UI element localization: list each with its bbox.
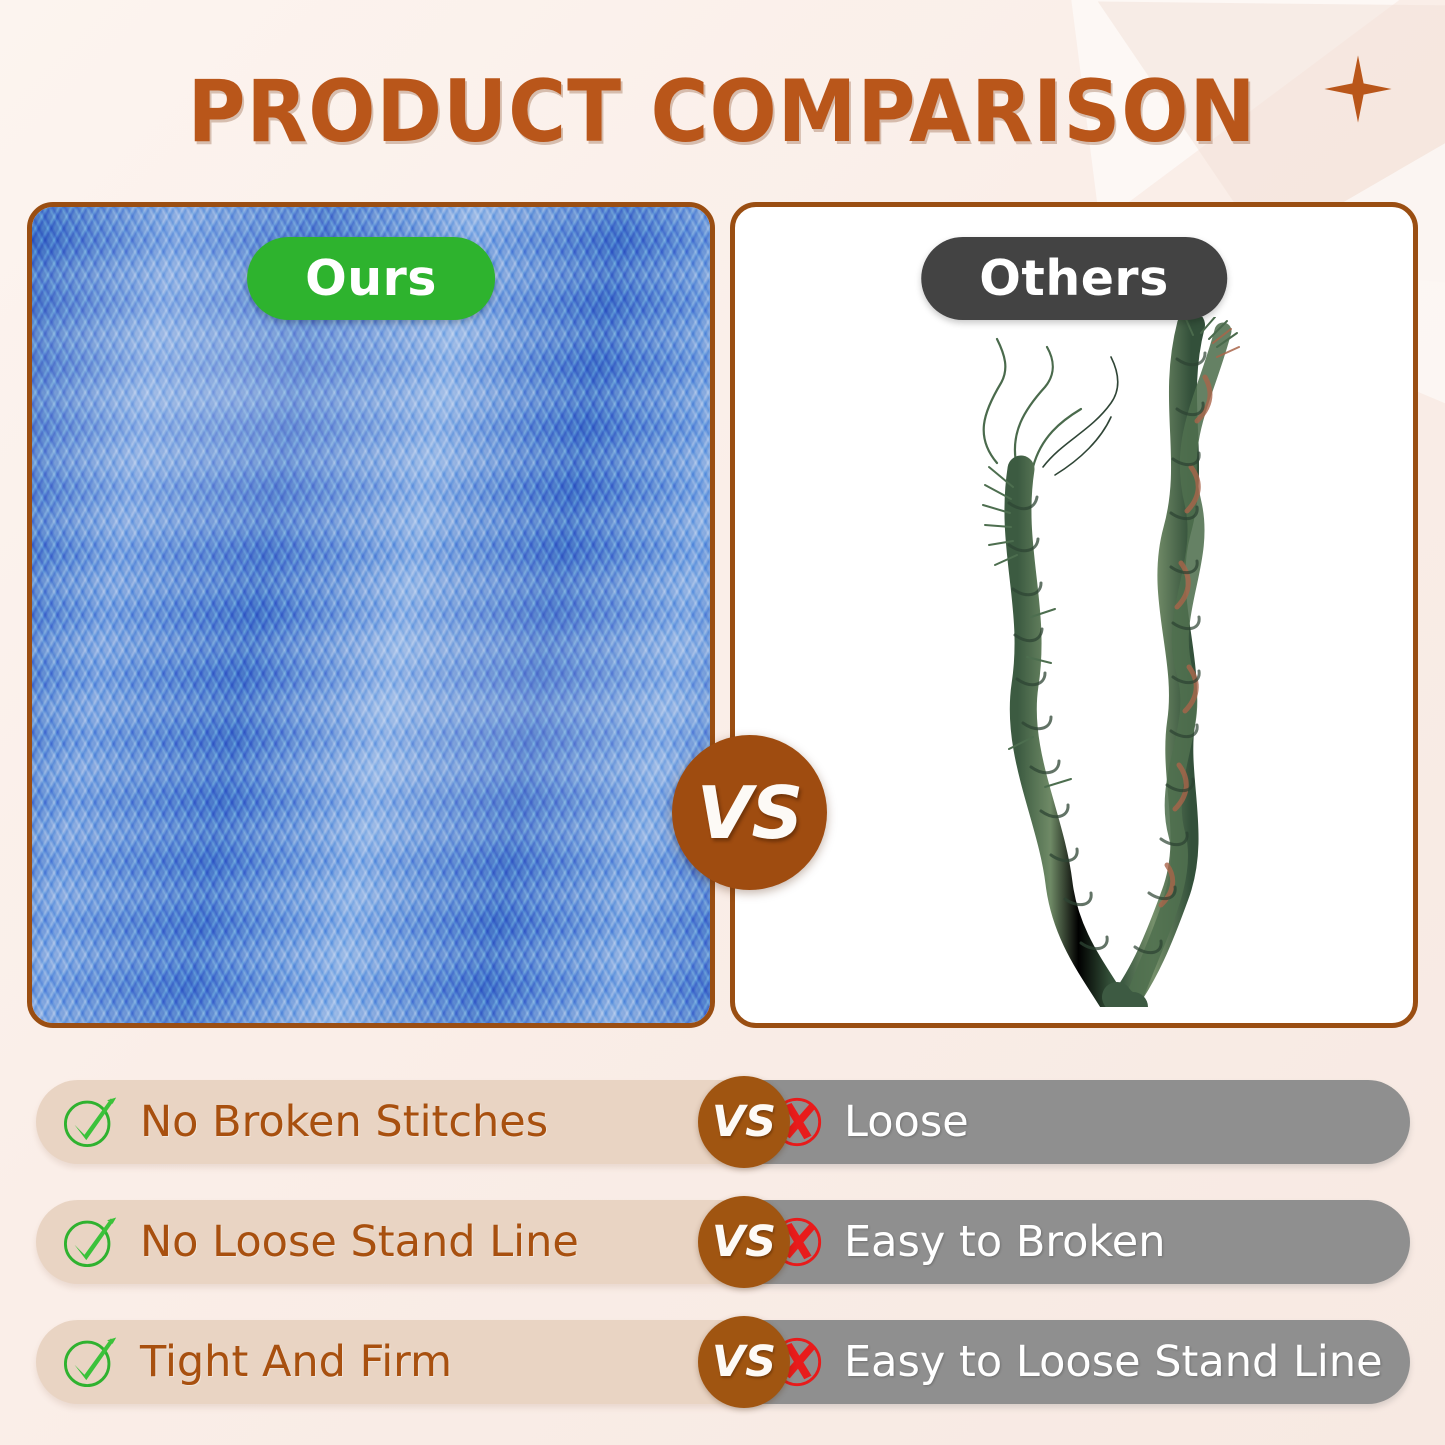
row-vs-badge: VS <box>698 1076 790 1168</box>
con-pill: Easy to Loose Stand Line <box>736 1320 1410 1404</box>
con-label: Easy to Broken <box>844 1217 1166 1267</box>
badge-ours: Ours <box>247 237 495 320</box>
panel-others: Others <box>730 202 1418 1028</box>
vs-divider-badge: VS <box>672 735 827 890</box>
green-check-circle-icon <box>60 1213 118 1271</box>
green-check-circle-icon <box>60 1093 118 1151</box>
pro-pill: No Broken Stitches <box>36 1080 736 1164</box>
pro-label: Tight And Firm <box>140 1337 452 1387</box>
page-title-bar: PRODUCT COMPARISON <box>0 62 1445 162</box>
pro-pill: No Loose Stand Line <box>36 1200 736 1284</box>
page-title: PRODUCT COMPARISON <box>188 62 1257 162</box>
con-pill: Easy to Broken <box>736 1200 1410 1284</box>
comparison-rows: No Broken Stitches Loose VS No Loose Sta… <box>36 1080 1410 1404</box>
four-point-star-icon <box>1323 54 1393 124</box>
row-vs-label: VS <box>712 1221 776 1264</box>
row-vs-label: VS <box>712 1101 776 1144</box>
pro-label: No Loose Stand Line <box>140 1217 579 1267</box>
pro-label: No Broken Stitches <box>140 1097 548 1147</box>
panel-ours: Ours <box>27 202 715 1028</box>
con-label: Easy to Loose Stand Line <box>844 1337 1383 1387</box>
comparison-row: No Broken Stitches Loose VS <box>36 1080 1410 1164</box>
blue-thread-sheen <box>32 207 710 1023</box>
con-pill: Loose <box>736 1080 1410 1164</box>
frayed-rope-illustration <box>905 317 1325 1007</box>
row-vs-badge: VS <box>698 1196 790 1288</box>
green-check-circle-icon <box>60 1333 118 1391</box>
con-label: Loose <box>844 1097 969 1147</box>
comparison-panels: Ours Others <box>27 202 1418 1032</box>
vs-divider-label: VS <box>697 777 803 849</box>
comparison-row: No Loose Stand Line Easy to Broken VS <box>36 1200 1410 1284</box>
row-vs-badge: VS <box>698 1316 790 1408</box>
comparison-row: Tight And Firm Easy to Loose Stand Line … <box>36 1320 1410 1404</box>
pro-pill: Tight And Firm <box>36 1320 736 1404</box>
row-vs-label: VS <box>712 1341 776 1384</box>
badge-others: Others <box>921 237 1227 320</box>
